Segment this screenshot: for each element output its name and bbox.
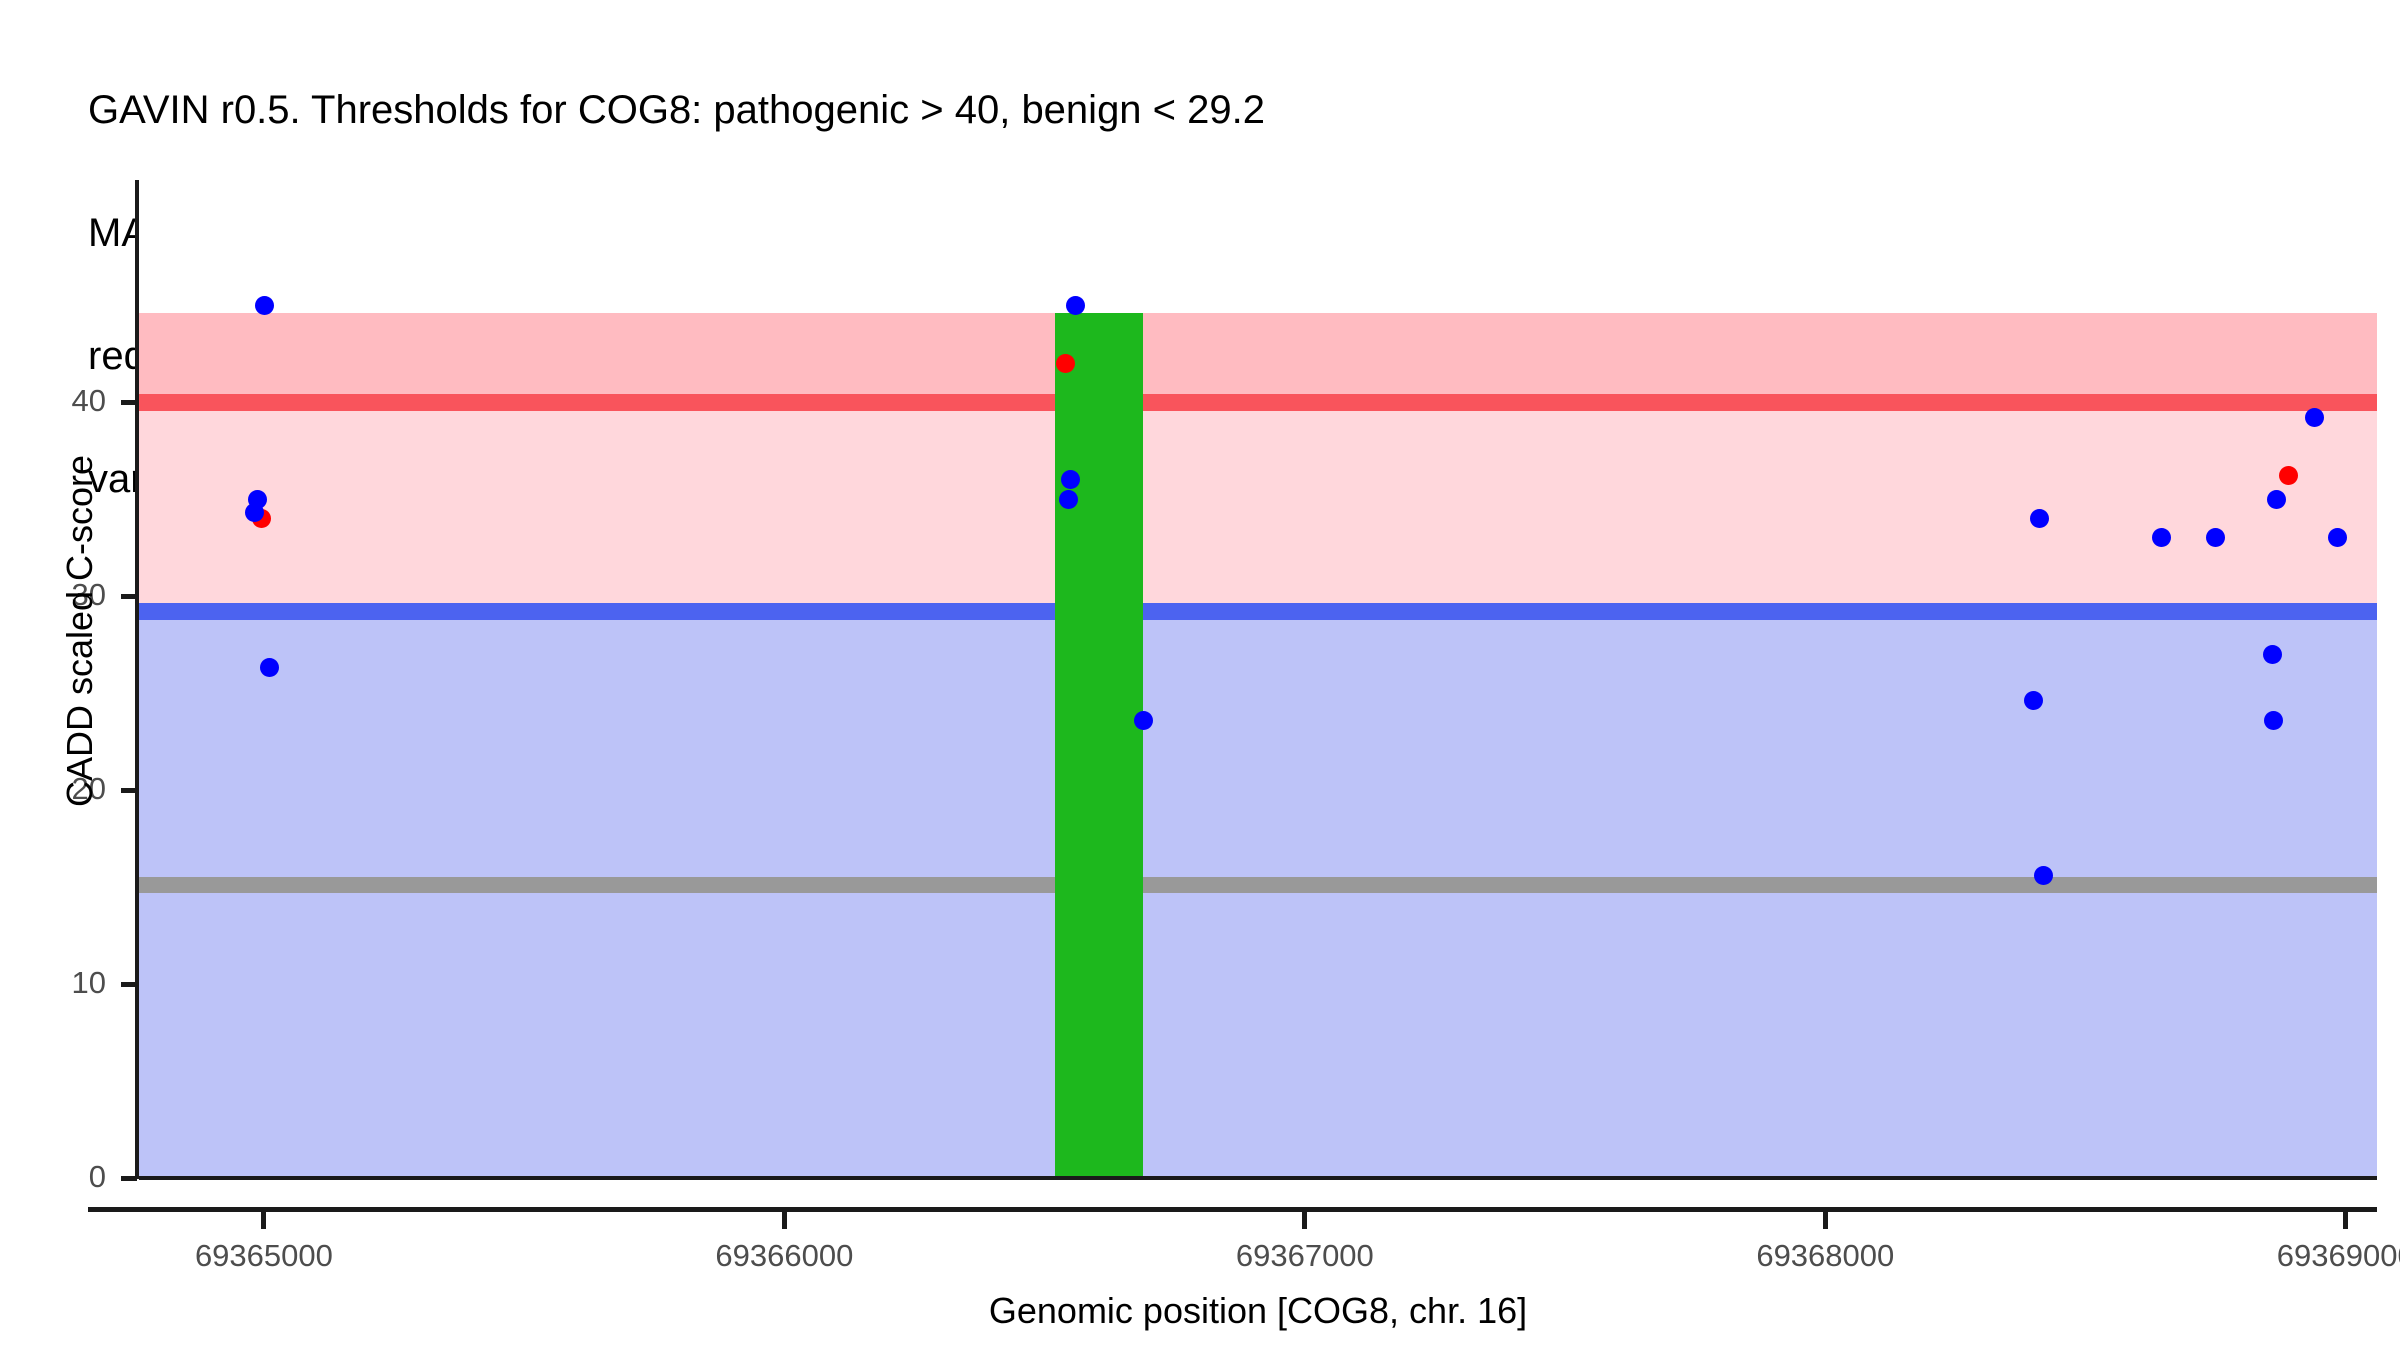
gnomad-variant-point: [2030, 509, 2049, 528]
y-axis-tick: [121, 400, 137, 405]
pathogenic-band: [139, 313, 2377, 402]
panel-bottom-line: [139, 1176, 2377, 1180]
gnomad-variant-point: [2305, 408, 2324, 427]
gnomad-variant-point: [2263, 645, 2282, 664]
x-axis-tick: [261, 1212, 266, 1229]
x-axis-tick: [1302, 1212, 1307, 1229]
y-axis-tick: [121, 1176, 137, 1181]
x-axis-title: Genomic position [COG8, chr. 16]: [139, 1290, 2377, 1332]
gnomad-variant-point: [1134, 711, 1153, 730]
x-axis-tick-label: 69365000: [114, 1238, 414, 1274]
gnomad-variant-point: [2267, 490, 2286, 509]
benign-threshold-line: [139, 603, 2377, 620]
gnomad-variant-point: [260, 658, 279, 677]
x-axis-tick-label: 69367000: [1155, 1238, 1455, 1274]
y-axis-tick: [121, 594, 137, 599]
gnomad-variant-point: [245, 503, 264, 522]
refseq-exon: [1055, 313, 1143, 1178]
x-axis-line: [88, 1207, 2377, 1212]
gnomad-variant-point: [1059, 490, 1078, 509]
clinvar-variant-point: [1056, 354, 1075, 373]
y-axis-tick: [121, 788, 137, 793]
x-axis-tick: [1823, 1212, 1828, 1229]
x-axis-tick: [2343, 1212, 2348, 1229]
pathogenic-threshold-line: [139, 394, 2377, 411]
gnomad-variant-point: [255, 296, 274, 315]
gnomad-variant-point: [1066, 296, 1085, 315]
plot-panel: [139, 180, 2377, 1178]
y-axis-tick: [121, 982, 137, 987]
y-axis-line: [135, 180, 139, 1179]
x-axis-tick-label: 69369000: [2196, 1238, 2400, 1274]
y-axis-tick-label: 0: [6, 1159, 106, 1195]
x-axis-tick-label: 69368000: [1675, 1238, 1975, 1274]
gnomad-variant-point: [2264, 711, 2283, 730]
y-axis-title: CADD scaled C-score: [59, 251, 101, 1011]
intermediate-band: [139, 402, 2377, 612]
x-axis-tick: [782, 1212, 787, 1229]
x-axis-tick-label: 69366000: [634, 1238, 934, 1274]
title-line-1: GAVIN r0.5. Thresholds for COG8: pathoge…: [88, 90, 2368, 131]
